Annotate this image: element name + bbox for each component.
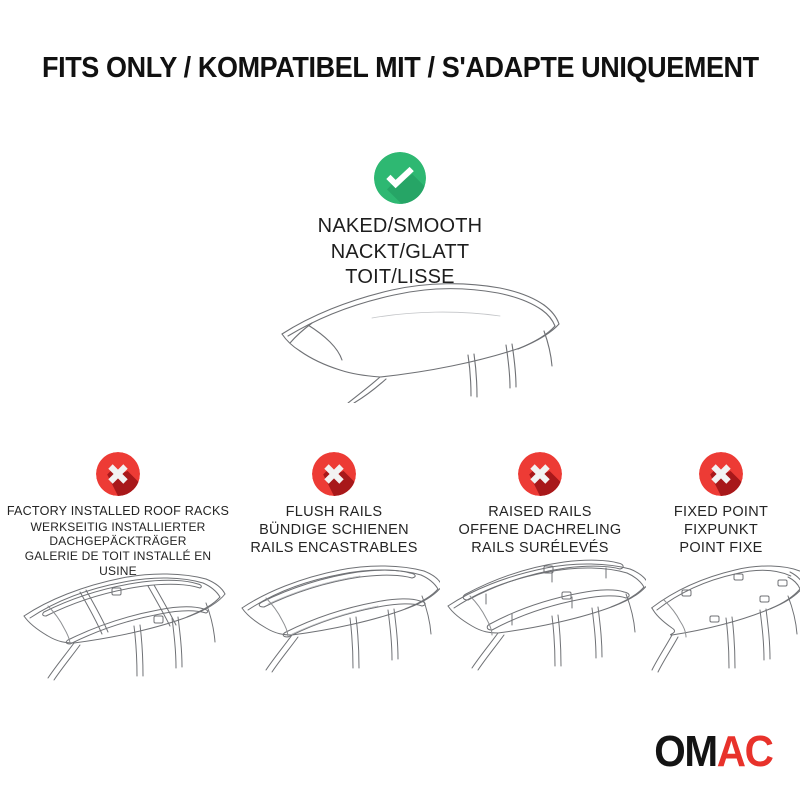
page-title: FITS ONLY / KOMPATIBEL MIT / S'ADAPTE UN… xyxy=(0,52,800,85)
logo-part-om: OM xyxy=(654,727,716,776)
incompatible-item-fixed-point: FIXED POINT FIXPUNKT POINT FIXE xyxy=(642,452,800,558)
label-line-de-1: WERKSEITIG INSTALLIERTER xyxy=(6,520,230,535)
x-circle-icon xyxy=(312,452,356,496)
logo-part-ac: AC xyxy=(716,727,772,776)
page-title-text: FITS ONLY / KOMPATIBEL MIT / S'ADAPTE UN… xyxy=(42,52,759,85)
omac-logo: OMAC xyxy=(654,730,772,774)
label-line-en: FACTORY INSTALLED ROOF RACKS xyxy=(6,504,230,520)
check-circle-icon xyxy=(374,152,426,204)
roof-illustration-fixed-point xyxy=(642,552,800,687)
incompatible-item-raised-rails: RAISED RAILS OFFENE DACHRELING RAILS SUR… xyxy=(434,452,646,558)
x-circle-icon xyxy=(518,452,562,496)
roof-illustration-naked-smooth xyxy=(252,278,572,403)
label-line-de: BÜNDIGE SCHIENEN xyxy=(228,522,440,540)
compatible-label-en: NAKED/SMOOTH xyxy=(0,214,800,240)
incompatible-labels: FIXED POINT FIXPUNKT POINT FIXE xyxy=(642,504,800,558)
incompatible-item-flush-rails: FLUSH RAILS BÜNDIGE SCHIENEN RAILS ENCAS… xyxy=(228,452,440,558)
incompatible-item-factory-roof-racks: FACTORY INSTALLED ROOF RACKS WERKSEITIG … xyxy=(6,452,230,579)
label-line-de: OFFENE DACHRELING xyxy=(434,522,646,540)
incompatible-section: FACTORY INSTALLED ROOF RACKS WERKSEITIG … xyxy=(0,452,800,702)
label-line-en: FLUSH RAILS xyxy=(228,504,440,522)
label-line-de-2: DACHGEPÄCKTRÄGER xyxy=(6,534,230,549)
x-circle-icon xyxy=(96,452,140,496)
label-line-en: RAISED RAILS xyxy=(434,504,646,522)
roof-illustration-factory-racks xyxy=(6,556,230,691)
roof-illustration-raised-rails xyxy=(434,544,646,679)
label-line-de: FIXPUNKT xyxy=(642,522,800,540)
label-line-en: FIXED POINT xyxy=(642,504,800,522)
roof-illustration-flush-rails xyxy=(228,552,440,687)
incompatible-labels: FLUSH RAILS BÜNDIGE SCHIENEN RAILS ENCAS… xyxy=(228,504,440,558)
x-circle-icon xyxy=(699,452,743,496)
compatible-section: NAKED/SMOOTH NACKT/GLATT TOIT/LISSE xyxy=(0,152,800,291)
compatible-label-de: NACKT/GLATT xyxy=(0,240,800,266)
